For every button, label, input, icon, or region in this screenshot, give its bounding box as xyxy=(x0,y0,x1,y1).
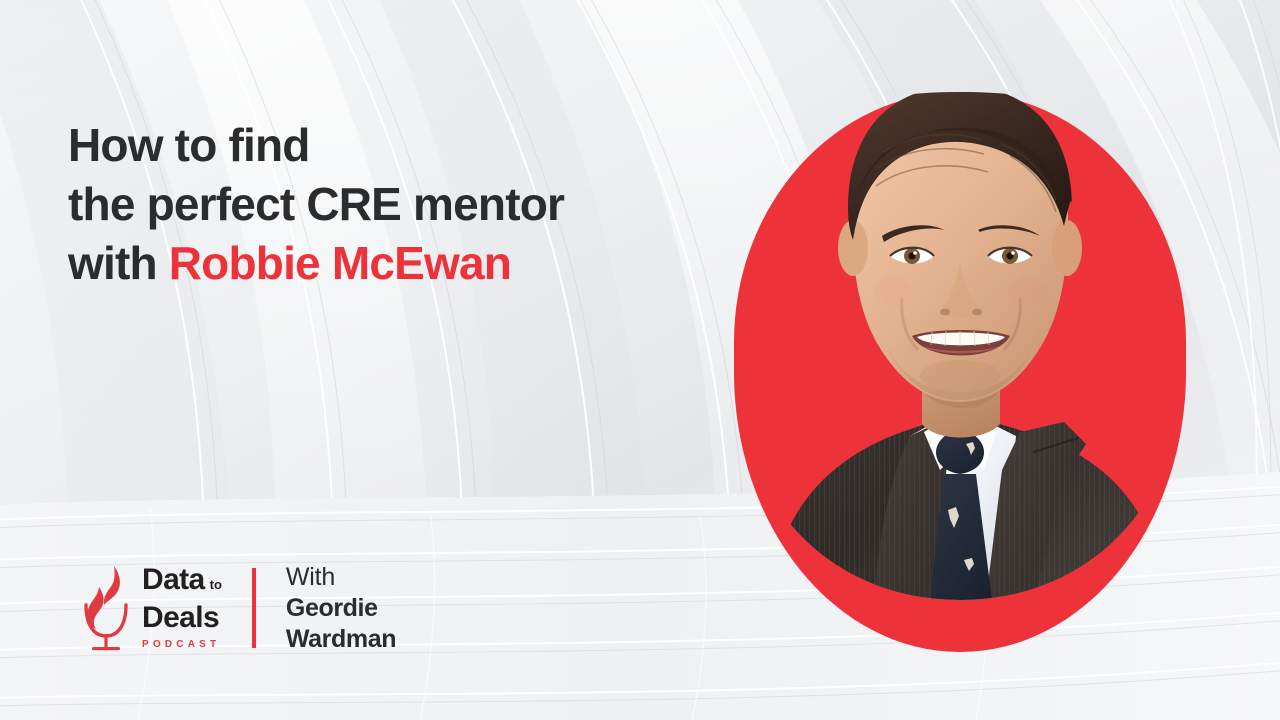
host-with-label: With xyxy=(286,562,396,593)
wordmark-podcast-tagline: PODCAST xyxy=(142,637,222,653)
host-first-name: Geordie xyxy=(286,593,396,624)
title-line-3: with Robbie McEwan xyxy=(68,234,708,293)
podcast-wordmark: Data to Deals PODCAST xyxy=(142,564,222,653)
guest-portrait xyxy=(734,40,1186,652)
title-with-label: with xyxy=(68,237,169,289)
flame-microphone-icon xyxy=(80,560,132,656)
guest-name: Robbie McEwan xyxy=(169,237,511,289)
title-line-1: How to find xyxy=(68,116,708,175)
host-credit: With Geordie Wardman xyxy=(286,562,396,655)
episode-title: How to find the perfect CRE mentor with … xyxy=(68,116,708,293)
promo-canvas: How to find the perfect CRE mentor with … xyxy=(0,0,1280,720)
wordmark-deals: Deals xyxy=(142,601,222,634)
wordmark-to: to xyxy=(210,569,222,601)
logo-divider xyxy=(252,568,256,648)
wordmark-data: Data xyxy=(142,564,205,596)
host-last-name: Wardman xyxy=(286,624,396,655)
podcast-logo-lockup: Data to Deals PODCAST With Geordie Wardm… xyxy=(80,560,396,656)
title-line-2: the perfect CRE mentor xyxy=(68,175,708,234)
